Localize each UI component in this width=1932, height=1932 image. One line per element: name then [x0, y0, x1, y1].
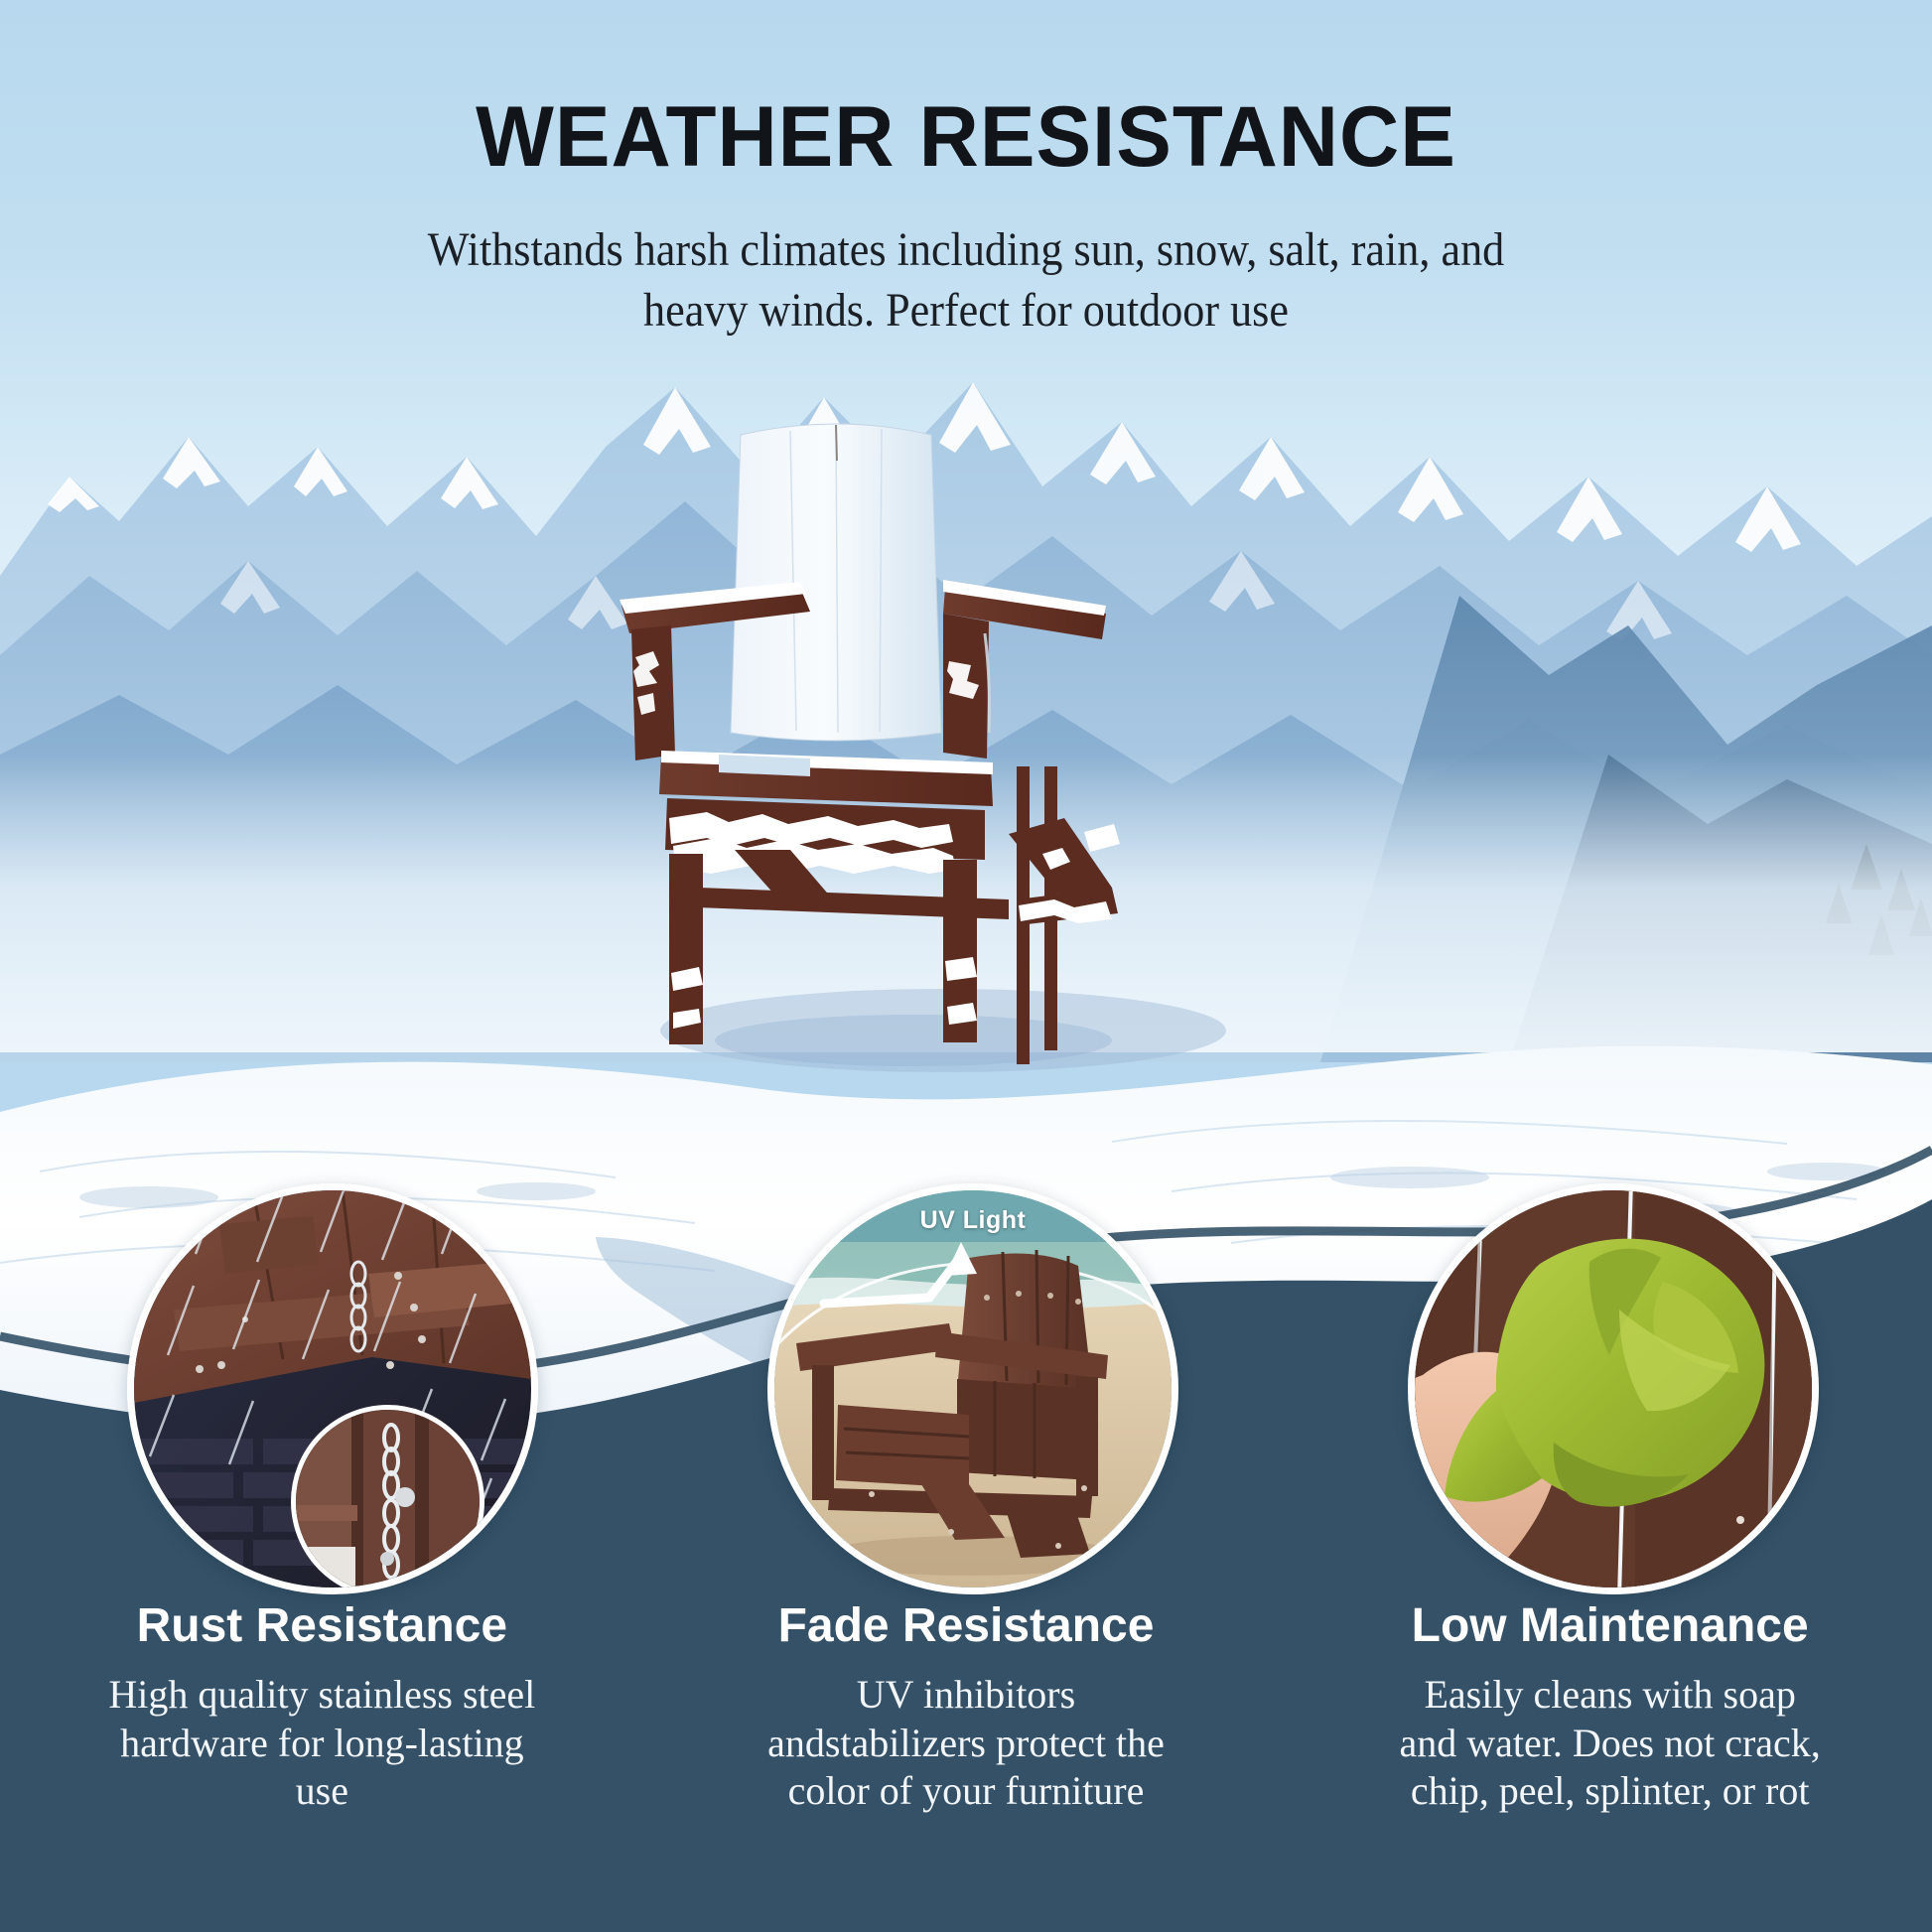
header: WEATHER RESISTANCE Withstands harsh clim…	[0, 0, 1932, 342]
feature-circle-low-maintenance	[1408, 1183, 1819, 1594]
page-subtitle: Withstands harsh climates including sun,…	[372, 180, 1560, 342]
feature-circle-fade-resistance: UV Light	[767, 1183, 1178, 1594]
uv-light-label: UV Light	[774, 1206, 1172, 1235]
feature-circle-rust-resistance	[127, 1183, 538, 1594]
infographic-canvas: UV Light	[0, 0, 1932, 1932]
uv-light-arrow-icon	[812, 1232, 1031, 1321]
feature-low-maintenance: Low Maintenance Easily cleans with soap …	[1288, 1600, 1932, 1859]
feature-fade-resistance: Fade Resistance UV inhibitors andstabili…	[644, 1600, 1289, 1859]
feature-description: UV inhibitors andstabilizers protect the…	[753, 1671, 1179, 1816]
chain-closeup-inset	[291, 1405, 484, 1594]
feature-description: Easily cleans with soap and water. Does …	[1397, 1671, 1824, 1816]
feature-title: Fade Resistance	[668, 1600, 1265, 1653]
feature-image-circles: UV Light	[0, 1172, 1932, 1598]
hero-snow-covered-chair	[616, 417, 1311, 1092]
feature-description: High quality stainless steel hardware fo…	[108, 1671, 535, 1816]
feature-title: Rust Resistance	[24, 1600, 621, 1653]
feature-text-row: Rust Resistance High quality stainless s…	[0, 1600, 1932, 1859]
feature-rust-resistance: Rust Resistance High quality stainless s…	[0, 1600, 644, 1859]
page-title: WEATHER RESISTANCE	[29, 0, 1903, 180]
feature-title: Low Maintenance	[1311, 1600, 1908, 1653]
